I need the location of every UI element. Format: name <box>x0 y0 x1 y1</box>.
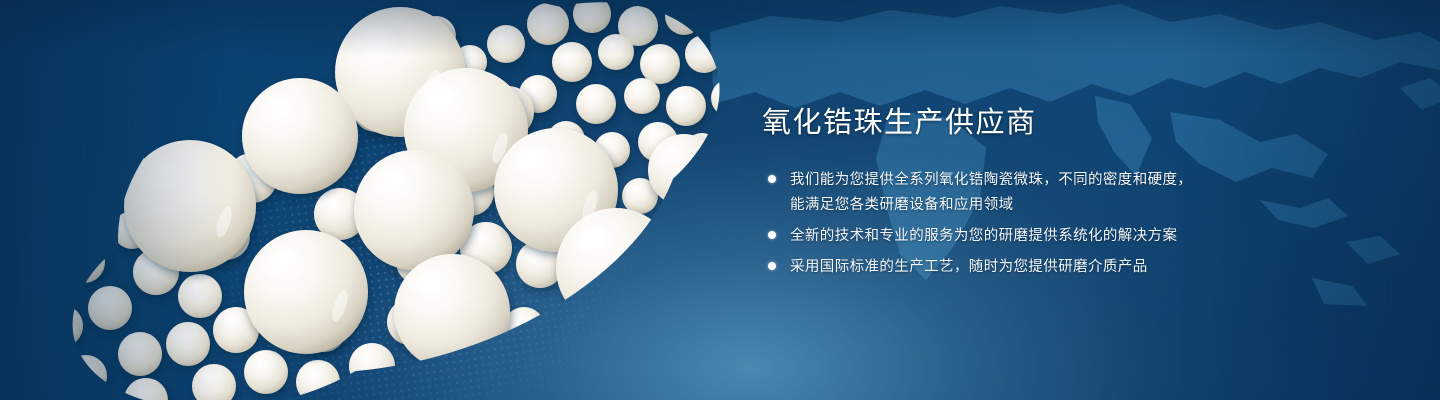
bullet-line: 采用国际标准的生产工艺，随时为您提供研磨介质产品 <box>790 255 1148 280</box>
bullet-line: 能满足您各类研磨设备和应用领域 <box>790 193 1192 218</box>
dot-bullet-icon <box>768 231 776 239</box>
list-item: 全新的技术和专业的服务为您的研磨提供系统化的解决方案 <box>762 224 1322 249</box>
page-title: 氧化锆珠生产供应商 <box>762 104 1322 142</box>
bullet-text: 采用国际标准的生产工艺，随时为您提供研磨介质产品 <box>790 255 1148 280</box>
bullet-text: 全新的技术和专业的服务为您的研磨提供系统化的解决方案 <box>790 224 1177 249</box>
bullet-line: 我们能为您提供全系列氧化锆陶瓷微珠，不同的密度和硬度， <box>790 168 1192 193</box>
feature-bullet-list: 我们能为您提供全系列氧化锆陶瓷微珠，不同的密度和硬度， 能满足您各类研磨设备和应… <box>762 168 1322 280</box>
hero-banner: 氧化锆珠生产供应商 我们能为您提供全系列氧化锆陶瓷微珠，不同的密度和硬度， 能满… <box>0 0 1440 400</box>
list-item: 采用国际标准的生产工艺，随时为您提供研磨介质产品 <box>762 255 1322 280</box>
bullet-text: 我们能为您提供全系列氧化锆陶瓷微珠，不同的密度和硬度， 能满足您各类研磨设备和应… <box>790 168 1192 218</box>
dot-bullet-icon <box>768 175 776 183</box>
zirconia-beads-image <box>0 0 760 400</box>
banner-copy-block: 氧化锆珠生产供应商 我们能为您提供全系列氧化锆陶瓷微珠，不同的密度和硬度， 能满… <box>762 104 1322 286</box>
bullet-line: 全新的技术和专业的服务为您的研磨提供系统化的解决方案 <box>790 224 1177 249</box>
list-item: 我们能为您提供全系列氧化锆陶瓷微珠，不同的密度和硬度， 能满足您各类研磨设备和应… <box>762 168 1322 218</box>
dot-bullet-icon <box>768 262 776 270</box>
